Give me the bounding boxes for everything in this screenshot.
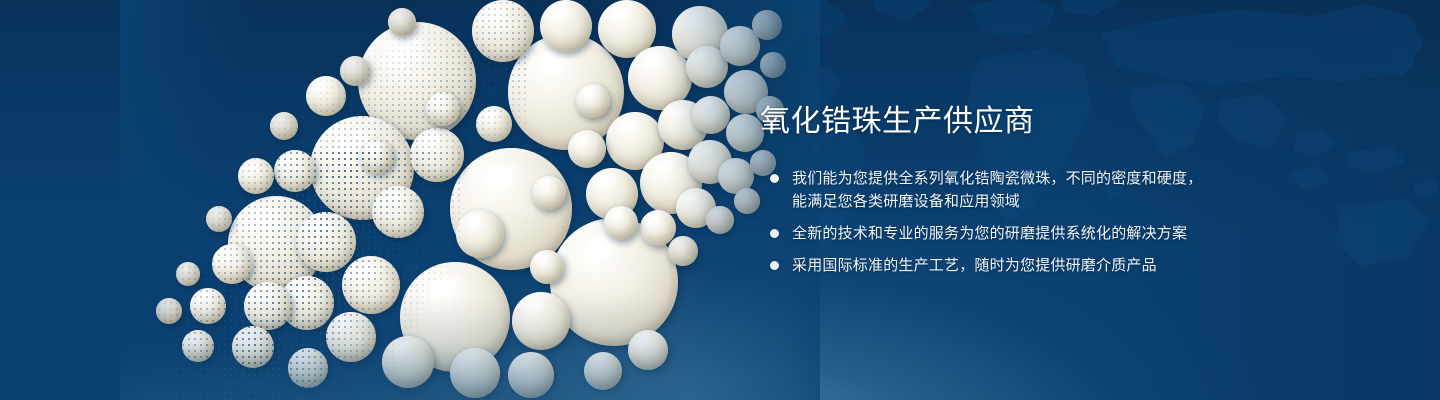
banner-copy: 氧化锆珠生产供应商 我们能为您提供全系列氧化锆陶瓷微珠，不同的密度和硬度， 能满… — [760, 104, 1280, 277]
list-item: 全新的技术和专业的服务为您的研磨提供系统化的解决方案 — [760, 222, 1280, 245]
hero-banner: 氧化锆珠生产供应商 我们能为您提供全系列氧化锆陶瓷微珠，不同的密度和硬度， 能满… — [0, 0, 1440, 400]
list-item-line1: 我们能为您提供全系列氧化锆陶瓷微珠，不同的密度和硬度， — [792, 170, 1202, 187]
bullet-dot-icon — [770, 174, 779, 183]
bead-cluster — [120, 0, 820, 400]
bullet-dot-icon — [770, 229, 779, 238]
list-item-line1: 全新的技术和专业的服务为您的研磨提供系统化的解决方案 — [792, 225, 1187, 242]
list-item: 我们能为您提供全系列氧化锆陶瓷微珠，不同的密度和硬度， 能满足您各类研磨设备和应… — [760, 167, 1280, 213]
list-item: 采用国际标准的生产工艺，随时为您提供研磨介质产品 — [760, 254, 1280, 277]
zirconia-beads-photo — [120, 0, 820, 400]
list-item-line1: 采用国际标准的生产工艺，随时为您提供研磨介质产品 — [792, 257, 1157, 274]
bullet-dot-icon — [770, 261, 779, 270]
page-title: 氧化锆珠生产供应商 — [760, 104, 1280, 139]
list-item-line2: 能满足您各类研磨设备和应用领域 — [792, 190, 1280, 213]
feature-list: 我们能为您提供全系列氧化锆陶瓷微珠，不同的密度和硬度， 能满足您各类研磨设备和应… — [760, 167, 1280, 277]
